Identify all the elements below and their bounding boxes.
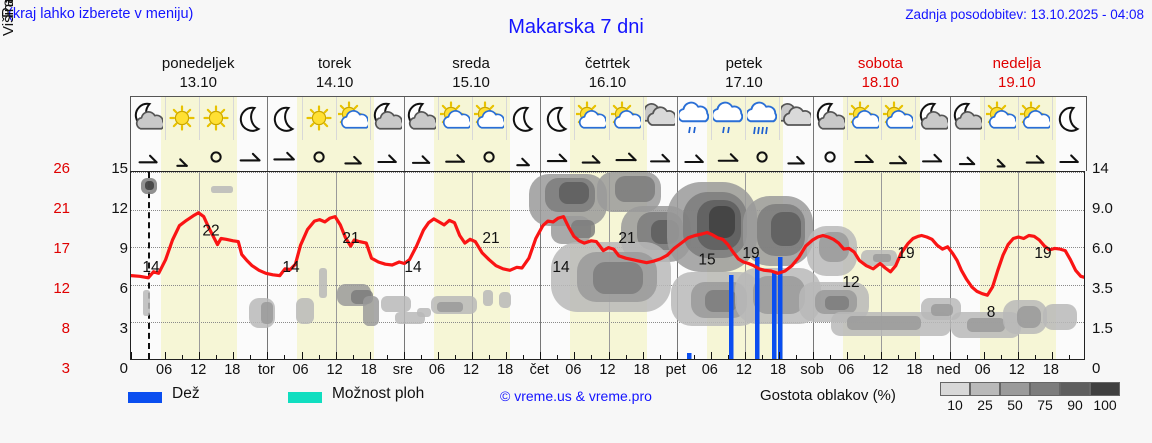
x-tick-12: 12	[590, 362, 624, 378]
day-date: 17.10	[676, 73, 812, 92]
day-name: ponedeljek	[130, 54, 266, 73]
wind-barb	[438, 140, 472, 171]
legend-showers-label: Možnost ploh	[332, 385, 424, 403]
x-tick-pet: pet	[659, 362, 693, 378]
day-date: 15.10	[403, 73, 539, 92]
wind-barb	[370, 140, 404, 171]
weather-icon-sun-cloud	[472, 99, 506, 139]
weather-icon-moon-cloud	[915, 99, 949, 139]
weather-icon-moon-cloud	[404, 99, 438, 139]
wind-barb	[540, 140, 574, 171]
cloud-density-value: 100	[1088, 397, 1122, 413]
x-tick-06: 06	[966, 362, 1000, 378]
cloudheight-tick: 1.5	[1092, 320, 1136, 337]
day-name: sobota	[812, 54, 948, 73]
weather-icon-sun	[199, 99, 233, 139]
weather-icon-cloud-rain	[745, 99, 779, 139]
x-tick-sre: sre	[386, 362, 420, 378]
svg-text:8: 8	[987, 304, 996, 321]
x-tick-18: 18	[215, 362, 249, 378]
wind-barb	[984, 140, 1018, 171]
temperature-tick: 12	[30, 280, 70, 297]
day-date: 19.10	[949, 73, 1085, 92]
x-tick-18: 18	[1034, 362, 1068, 378]
wind-barb	[609, 140, 643, 171]
wind-barb	[745, 140, 779, 171]
cloud-density-scale: 1025507590100	[940, 380, 1140, 416]
weather-icon-moon-cloud	[950, 99, 984, 139]
x-tick-12: 12	[181, 362, 215, 378]
wind-barb	[643, 140, 677, 171]
day-header-sreda: sreda15.10	[403, 54, 539, 92]
weather-icon-sun-cloud	[574, 99, 608, 139]
cloud-density-value: 90	[1058, 397, 1092, 413]
temperature-tick-labels: 2621171283	[30, 160, 70, 370]
temperature-tick: 21	[30, 200, 70, 217]
wind-barb-strip	[130, 140, 1087, 171]
svg-text:14: 14	[282, 259, 300, 276]
svg-text:14: 14	[552, 259, 570, 276]
weather-icon-cloud-rain-light	[711, 99, 745, 139]
cloud-density-swatch	[1000, 382, 1030, 396]
svg-text:19: 19	[742, 245, 759, 262]
weather-icon-sun-cloud	[609, 99, 643, 139]
day-name: četrtek	[539, 54, 675, 73]
cloudheight-tick: 6.0	[1092, 240, 1136, 257]
svg-text:19: 19	[897, 245, 914, 262]
weather-icon-sun-cloud	[336, 99, 370, 139]
day-header-četrtek: četrtek16.10	[539, 54, 675, 92]
precipitation-tick: 15	[100, 160, 128, 177]
x-tick-ned: ned	[932, 362, 966, 378]
x-tick-18: 18	[488, 362, 522, 378]
copyright-link[interactable]: © vreme.us & vreme.pro	[500, 388, 652, 404]
day-header-ponedeljek: ponedeljek13.10	[130, 54, 266, 92]
x-tick-čet: čet	[522, 362, 556, 378]
cloudheight-tick: 0	[1092, 360, 1136, 377]
cloudheight-tick: 3.5	[1092, 280, 1136, 297]
cloudheight-axis-title: Višina oblakov (km)	[0, 0, 17, 36]
x-tick-sob: sob	[795, 362, 829, 378]
svg-text:12: 12	[842, 274, 859, 291]
wind-barb	[711, 140, 745, 171]
weather-icon-moon	[540, 99, 574, 139]
day-date: 13.10	[130, 73, 266, 92]
x-tick-12: 12	[863, 362, 897, 378]
x-tick-12: 12	[1000, 362, 1034, 378]
precipitation-tick: 3	[100, 320, 128, 337]
weather-icon-moon-cloud	[813, 99, 847, 139]
day-name: nedelja	[949, 54, 1085, 73]
wind-barb	[165, 140, 199, 171]
last-update-timestamp: Zadnja posodobitev: 13.10.2025 - 04:08	[905, 7, 1144, 22]
temperature-tick: 17	[30, 240, 70, 257]
x-tick-12: 12	[727, 362, 761, 378]
cloud-density-value: 75	[1028, 397, 1062, 413]
precipitation-tick: 0	[100, 360, 128, 377]
wind-barb	[847, 140, 881, 171]
wind-barb	[813, 140, 847, 171]
wind-barb	[677, 140, 711, 171]
svg-text:21: 21	[342, 230, 359, 247]
wind-barb	[779, 140, 813, 171]
day-header-petek: petek17.10	[676, 54, 812, 92]
svg-text:14: 14	[142, 259, 160, 276]
wind-barb	[233, 140, 267, 171]
weather-icon-cloud	[779, 99, 813, 139]
weather-icon-moon-cloud	[131, 99, 165, 139]
weather-icon-sun-cloud	[438, 99, 472, 139]
wind-barb	[950, 140, 984, 171]
svg-text:21: 21	[482, 230, 499, 247]
cloud-density-value: 10	[938, 397, 972, 413]
temperature-tick: 3	[30, 360, 70, 377]
cloudheight-tick: 9.0	[1092, 200, 1136, 217]
wind-barb	[404, 140, 438, 171]
cloud-density-legend-title: Gostota oblakov (%)	[760, 387, 896, 404]
weather-icon-moon	[506, 99, 540, 139]
weather-icon-cloud-rain-light	[677, 99, 711, 139]
x-tick-12: 12	[454, 362, 488, 378]
precipitation-tick: 12	[100, 200, 128, 217]
day-date: 16.10	[539, 73, 675, 92]
cloud-density-swatch	[1030, 382, 1060, 396]
x-tick-18: 18	[897, 362, 931, 378]
weather-icon-sun	[165, 99, 199, 139]
x-tick-06: 06	[556, 362, 590, 378]
day-header-sobota: sobota18.10	[812, 54, 948, 92]
x-axis-tickmarks	[131, 351, 1084, 359]
meteogram-series: 14221421142114211519121981911	[131, 172, 1085, 360]
weather-icon-strip	[130, 96, 1087, 141]
svg-text:19: 19	[1034, 245, 1051, 262]
precipitation-tick: 6	[100, 280, 128, 297]
precipitation-tick-labels: 15129630	[100, 160, 128, 370]
wind-barb	[336, 140, 370, 171]
day-header-torek: torek14.10	[266, 54, 402, 92]
legend-showers-swatch	[288, 392, 322, 403]
wind-barb	[472, 140, 506, 171]
weather-icon-sun-cloud	[847, 99, 881, 139]
weather-icon-sun-cloud	[881, 99, 915, 139]
cloud-density-swatch	[1090, 382, 1120, 396]
weather-icon-moon-cloud	[370, 99, 404, 139]
weather-icon-sun-cloud	[984, 99, 1018, 139]
x-tick-06: 06	[283, 362, 317, 378]
temperature-tick: 8	[30, 320, 70, 337]
cloud-density-swatch	[940, 382, 970, 396]
day-name: torek	[266, 54, 402, 73]
weather-icon-cloud	[643, 99, 677, 139]
x-tick-18: 18	[352, 362, 386, 378]
wind-barb	[506, 140, 540, 171]
wind-barb	[574, 140, 608, 171]
svg-text:22: 22	[202, 222, 219, 239]
svg-text:15: 15	[698, 251, 715, 268]
forecast-plot[interactable]: 14221421142114211519121981911	[130, 96, 1085, 360]
temperature-tick: 26	[30, 160, 70, 177]
cloudheight-tick: 14	[1092, 160, 1136, 177]
wind-barb	[1052, 140, 1086, 171]
day-name: sreda	[403, 54, 539, 73]
x-tick-12: 12	[318, 362, 352, 378]
svg-text:21: 21	[618, 230, 635, 247]
x-tick-06: 06	[693, 362, 727, 378]
cloud-density-swatch	[1060, 382, 1090, 396]
wind-barb	[1018, 140, 1052, 171]
weather-icon-moon	[233, 99, 267, 139]
wind-barb	[915, 140, 949, 171]
cloud-density-value: 50	[998, 397, 1032, 413]
cloud-density-value: 25	[968, 397, 1002, 413]
cloudheight-tick-labels: 149.06.03.51.50	[1092, 160, 1136, 370]
x-tick-06: 06	[147, 362, 181, 378]
x-tick-tor: tor	[249, 362, 283, 378]
x-tick-18: 18	[625, 362, 659, 378]
legend-rain-label: Dež	[172, 385, 200, 403]
meteogram-canvas[interactable]: 14221421142114211519121981911	[130, 171, 1085, 360]
day-name: petek	[676, 54, 812, 73]
legend-rain-swatch	[128, 392, 162, 403]
day-header-row: ponedeljek13.10torek14.10sreda15.10četrt…	[130, 54, 1085, 94]
wind-barb	[881, 140, 915, 171]
wind-barb	[131, 140, 165, 171]
precipitation-tick: 9	[100, 240, 128, 257]
weather-icon-sun-cloud	[1018, 99, 1052, 139]
x-tick-06: 06	[420, 362, 454, 378]
wind-barb	[199, 140, 233, 171]
x-tick-18: 18	[761, 362, 795, 378]
day-date: 18.10	[812, 73, 948, 92]
wind-barb	[267, 140, 301, 171]
weather-icon-moon	[1052, 99, 1086, 139]
cloud-density-swatch	[970, 382, 1000, 396]
wind-barb	[302, 140, 336, 171]
weather-icon-moon	[267, 99, 301, 139]
day-header-nedelja: nedelja19.10	[949, 54, 1085, 92]
svg-text:14: 14	[404, 259, 422, 276]
day-date: 14.10	[266, 73, 402, 92]
weather-icon-sun	[302, 99, 336, 139]
x-tick-06: 06	[829, 362, 863, 378]
